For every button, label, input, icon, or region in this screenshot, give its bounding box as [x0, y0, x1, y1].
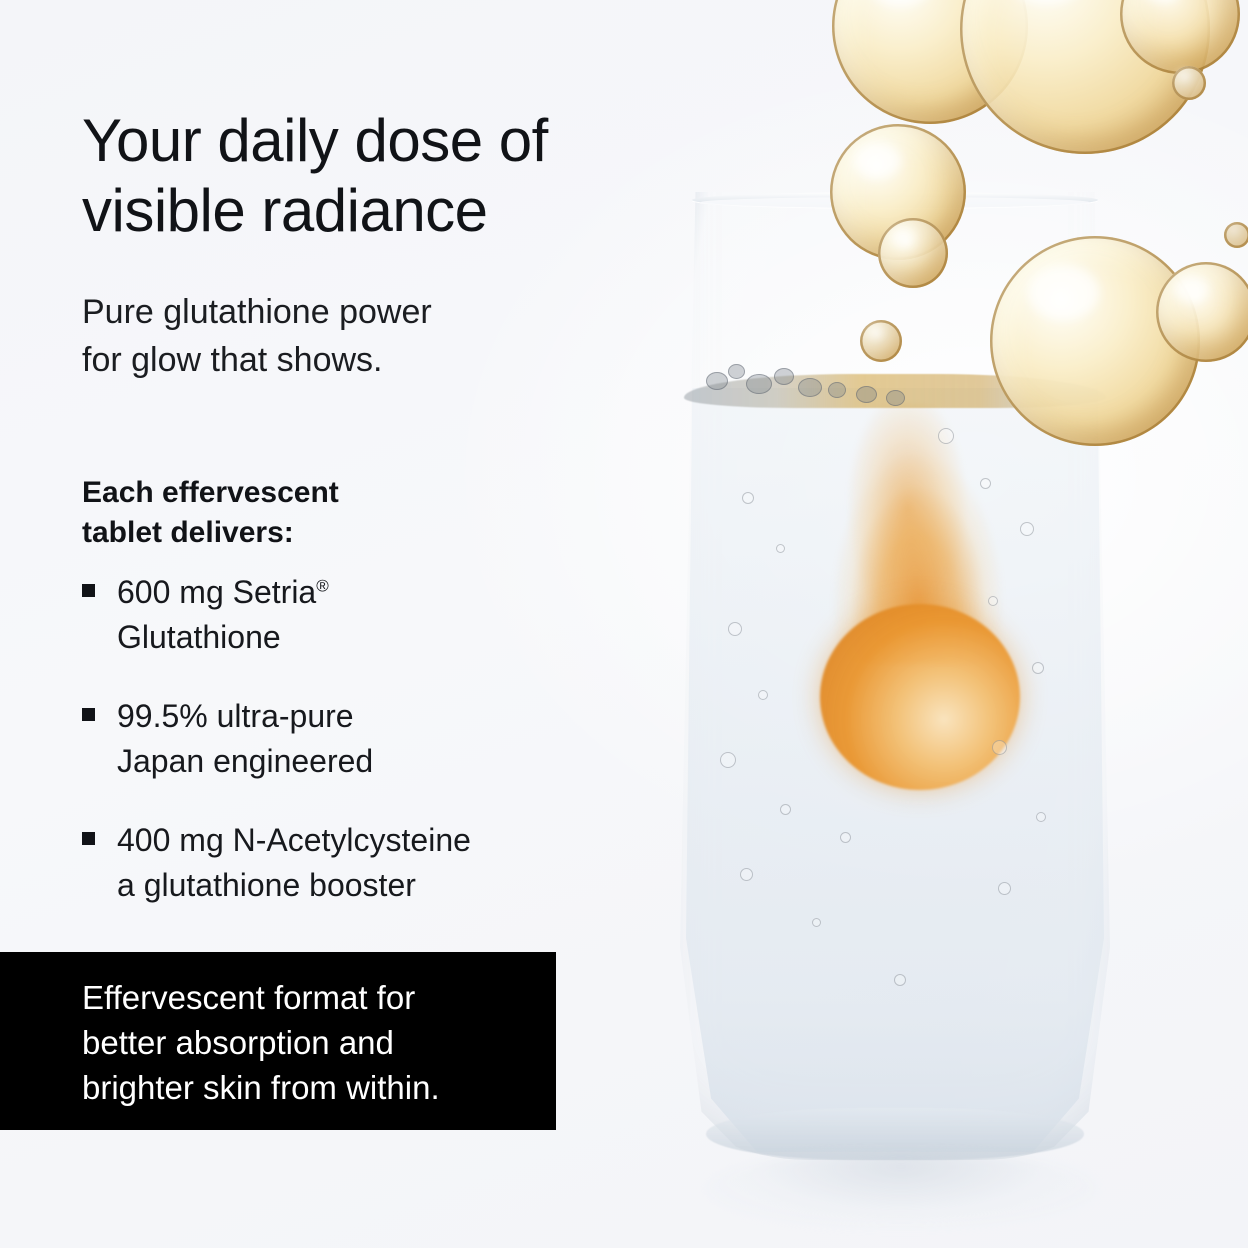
fizz-bubble: [980, 478, 991, 489]
list-heading-line-2: tablet delivers:: [82, 513, 522, 553]
fizz-bubble: [988, 596, 998, 606]
fizz-bubble: [1032, 662, 1044, 674]
oil-bubble: [1224, 222, 1248, 248]
fizz-bubble: [812, 918, 821, 927]
square-bullet-icon: [82, 832, 95, 845]
list-item: 600 mg Setria® Glutathione: [82, 570, 602, 660]
list-item: 400 mg N-Acetylcysteine a glutathione bo…: [82, 818, 602, 908]
ingredients-list-heading: Each effervescent tablet delivers:: [82, 473, 522, 553]
list-item-text: 600 mg Setria® Glutathione: [117, 570, 329, 660]
headline-line-2: visible radiance: [82, 176, 682, 246]
fizz-bubble: [998, 882, 1011, 895]
list-item-text: 99.5% ultra-pure Japan engineered: [117, 694, 373, 784]
oil-bubble: [1156, 262, 1248, 362]
surface-foam-bubble: [828, 382, 846, 398]
list-item-line-2: Glutathione: [117, 615, 329, 660]
callout-line-2: better absorption and: [82, 1020, 552, 1065]
fizz-bubble: [780, 804, 791, 815]
callout-line-1: Effervescent format for: [82, 975, 552, 1020]
headline-line-1: Your daily dose of: [82, 106, 682, 176]
fizz-bubble: [894, 974, 906, 986]
fizz-bubble: [776, 544, 785, 553]
list-item: 99.5% ultra-pure Japan engineered: [82, 694, 602, 784]
fizz-bubble: [1020, 522, 1034, 536]
fizz-bubble: [728, 622, 742, 636]
fizz-bubble: [840, 832, 851, 843]
list-item-text: 400 mg N-Acetylcysteine a glutathione bo…: [117, 818, 471, 908]
fizz-bubble: [742, 492, 754, 504]
surface-foam-bubble: [774, 368, 794, 385]
list-item-line-1: 99.5% ultra-pure: [117, 694, 373, 739]
list-item-line-2: a glutathione booster: [117, 863, 471, 908]
fizz-bubble: [992, 740, 1007, 755]
table-reflection: [706, 1152, 1096, 1226]
fizz-bubble: [1036, 812, 1046, 822]
surface-foam-bubble: [746, 374, 772, 394]
list-item-line-1: 600 mg Setria®: [117, 570, 329, 615]
subheadline: Pure glutathione power for glow that sho…: [82, 288, 602, 384]
page-title: Your daily dose of visible radiance: [82, 106, 682, 246]
square-bullet-icon: [82, 584, 95, 597]
oil-bubble: [878, 218, 948, 288]
fizz-bubble: [758, 690, 768, 700]
surface-foam-bubble: [728, 364, 745, 379]
fizz-bubble: [740, 868, 753, 881]
surface-foam-bubble: [706, 372, 728, 390]
surface-foam-bubble: [856, 386, 877, 403]
list-item-line-1: 400 mg N-Acetylcysteine: [117, 818, 471, 863]
fizz-bubble: [938, 428, 954, 444]
square-bullet-icon: [82, 708, 95, 721]
ingredients-list: 600 mg Setria® Glutathione 99.5% ultra-p…: [82, 570, 602, 942]
product-poster: Your daily dose of visible radiance Pure…: [0, 0, 1248, 1248]
oil-bubble: [860, 320, 902, 362]
fizz-bubble: [720, 752, 736, 768]
oil-bubble: [1172, 66, 1206, 100]
subhead-line-1: Pure glutathione power: [82, 288, 602, 336]
surface-foam-bubble: [798, 378, 822, 397]
callout-banner: Effervescent format for better absorptio…: [0, 952, 556, 1130]
list-item-line-2: Japan engineered: [117, 739, 373, 784]
registered-trademark-icon: ®: [316, 576, 329, 595]
callout-text: Effervescent format for better absorptio…: [82, 975, 552, 1110]
list-heading-line-1: Each effervescent: [82, 473, 522, 513]
effervescent-tablet: [820, 604, 1020, 790]
callout-line-3: brighter skin from within.: [82, 1065, 552, 1110]
surface-foam-bubble: [886, 390, 905, 406]
subhead-line-2: for glow that shows.: [82, 336, 602, 384]
